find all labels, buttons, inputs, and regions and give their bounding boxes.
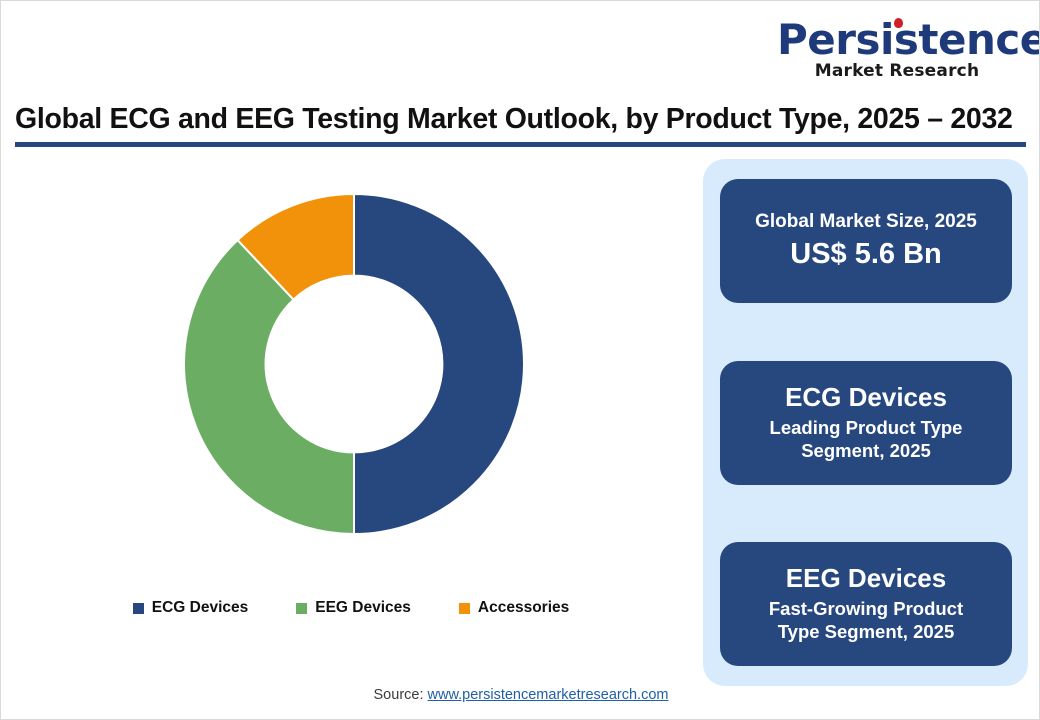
page-title: Global ECG and EEG Testing Market Outloo… <box>15 103 1027 136</box>
stat-card-market-size: Global Market Size, 2025 US$ 5.6 Bn <box>720 179 1012 303</box>
legend-label-accessories: Accessories <box>478 599 569 617</box>
logo-tagline: Market Research <box>777 63 1017 80</box>
legend-item-accessories[interactable]: Accessories <box>459 599 569 617</box>
highlights-panel: Global Market Size, 2025 US$ 5.6 Bn ECG … <box>703 159 1028 686</box>
leading-segment-caption-line1: Leading Product Type <box>770 417 963 438</box>
fastest-growing-caption-line1: Fast-Growing Product <box>769 598 963 619</box>
market-size-label: Global Market Size, 2025 <box>755 211 977 233</box>
logo-accent-dot-icon <box>894 18 903 28</box>
fastest-growing-segment-caption: Fast-Growing Product Type Segment, 2025 <box>769 597 963 644</box>
donut-slice-eeg-devices[interactable] <box>184 240 354 534</box>
company-logo: Persistence Market Research <box>777 19 1017 80</box>
logo-wordmark: Persistence <box>777 19 1040 61</box>
leading-segment-name: ECG Devices <box>785 383 947 413</box>
stat-card-leading-segment: ECG Devices Leading Product Type Segment… <box>720 361 1012 485</box>
source-link[interactable]: www.persistencemarketresearch.com <box>428 687 669 703</box>
source-footer: Source: www.persistencemarketresearch.co… <box>1 687 1040 703</box>
infographic-page: Persistence Market Research Global ECG a… <box>0 0 1040 720</box>
legend-swatch-eeg-devices <box>296 603 307 614</box>
donut-chart <box>184 194 524 534</box>
logo-wordmark-text: Persistence <box>777 15 1040 64</box>
donut-slice-group <box>184 194 524 534</box>
fastest-growing-segment-name: EEG Devices <box>786 564 946 594</box>
leading-segment-caption: Leading Product Type Segment, 2025 <box>770 416 963 463</box>
title-underline-rule <box>15 142 1026 147</box>
legend-label-eeg-devices: EEG Devices <box>315 599 411 617</box>
legend-swatch-accessories <box>459 603 470 614</box>
legend-label-ecg-devices: ECG Devices <box>152 599 249 617</box>
market-size-value: US$ 5.6 Bn <box>790 237 942 272</box>
fastest-growing-caption-line2: Type Segment, 2025 <box>778 621 955 642</box>
legend-item-eeg-devices[interactable]: EEG Devices <box>296 599 411 617</box>
chart-legend: ECG Devices EEG Devices Accessories <box>21 599 681 617</box>
stat-card-fastest-growing-segment: EEG Devices Fast-Growing Product Type Se… <box>720 542 1012 666</box>
leading-segment-caption-line2: Segment, 2025 <box>801 440 931 461</box>
legend-swatch-ecg-devices <box>133 603 144 614</box>
chart-area <box>21 161 681 581</box>
source-prefix: Source: <box>374 687 428 703</box>
donut-slice-ecg-devices[interactable] <box>354 194 524 534</box>
legend-item-ecg-devices[interactable]: ECG Devices <box>133 599 249 617</box>
